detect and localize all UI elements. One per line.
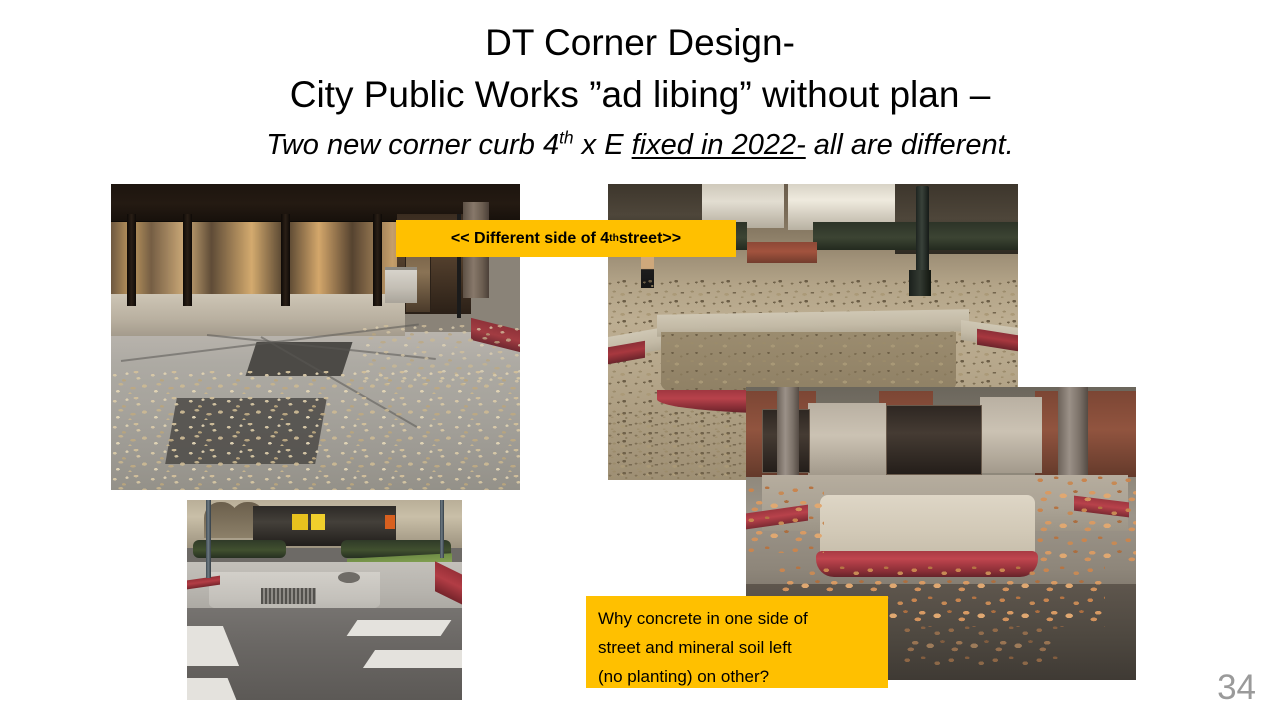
callout-line-2: street and mineral soil left <box>598 633 888 662</box>
crosswalk-stripe <box>187 678 235 700</box>
building-entry-doors <box>886 405 982 475</box>
page-number: 34 <box>1217 668 1256 708</box>
slide-title-block: DT Corner Design- City Public Works ”ad … <box>0 18 1280 166</box>
subtitle-prefix: Two new corner curb 4 <box>266 129 559 161</box>
trash-bin <box>385 267 417 303</box>
fallen-leaves <box>902 623 1058 667</box>
title-line-2: City Public Works ”ad libing” without pl… <box>0 68 1280 122</box>
crosswalk-stripe <box>362 650 462 668</box>
storefront-sign <box>385 515 395 529</box>
fallen-leaves <box>746 483 824 553</box>
subtitle-middle: x E <box>574 129 632 161</box>
callout-line-1: Why concrete in one side of <box>598 604 888 633</box>
window-mullion <box>183 214 192 306</box>
callout-suffix: street>> <box>619 230 681 248</box>
slide-subtitle: Two new corner curb 4th x E fixed in 202… <box>0 124 1280 166</box>
light-pole <box>206 500 211 578</box>
photo-crosswalk-corner <box>187 500 462 700</box>
storefront-sign <box>311 514 325 530</box>
window-mullion <box>373 214 382 306</box>
callout-line-3: (no planting) on other? <box>598 662 888 691</box>
lamp-post-base <box>909 270 931 296</box>
subtitle-suffix: all are different. <box>806 129 1014 161</box>
storefront-sign <box>292 514 308 530</box>
wall-panel <box>980 397 1042 473</box>
subtitle-underlined: fixed in 2022- <box>632 129 806 161</box>
window-mullion <box>127 214 136 306</box>
fallen-leaves <box>361 324 520 384</box>
title-line-1: DT Corner Design- <box>0 18 1280 68</box>
window-mullion <box>281 214 290 306</box>
brick-planter <box>747 242 817 263</box>
subtitle-superscript: th <box>559 127 574 147</box>
fallen-leaves <box>111 370 520 490</box>
crosswalk-stripe <box>347 620 451 636</box>
callout-why-concrete-question: Why concrete in one side of street and m… <box>586 596 888 688</box>
fallen-leaves <box>1035 473 1136 563</box>
sign-pole <box>440 500 444 558</box>
wall-panel <box>808 403 886 475</box>
callout-prefix: << Different side of 4 <box>451 230 609 248</box>
drain-grate <box>261 588 316 604</box>
callout-different-side-of-4th-street: << Different side of 4th street>> <box>396 220 736 257</box>
